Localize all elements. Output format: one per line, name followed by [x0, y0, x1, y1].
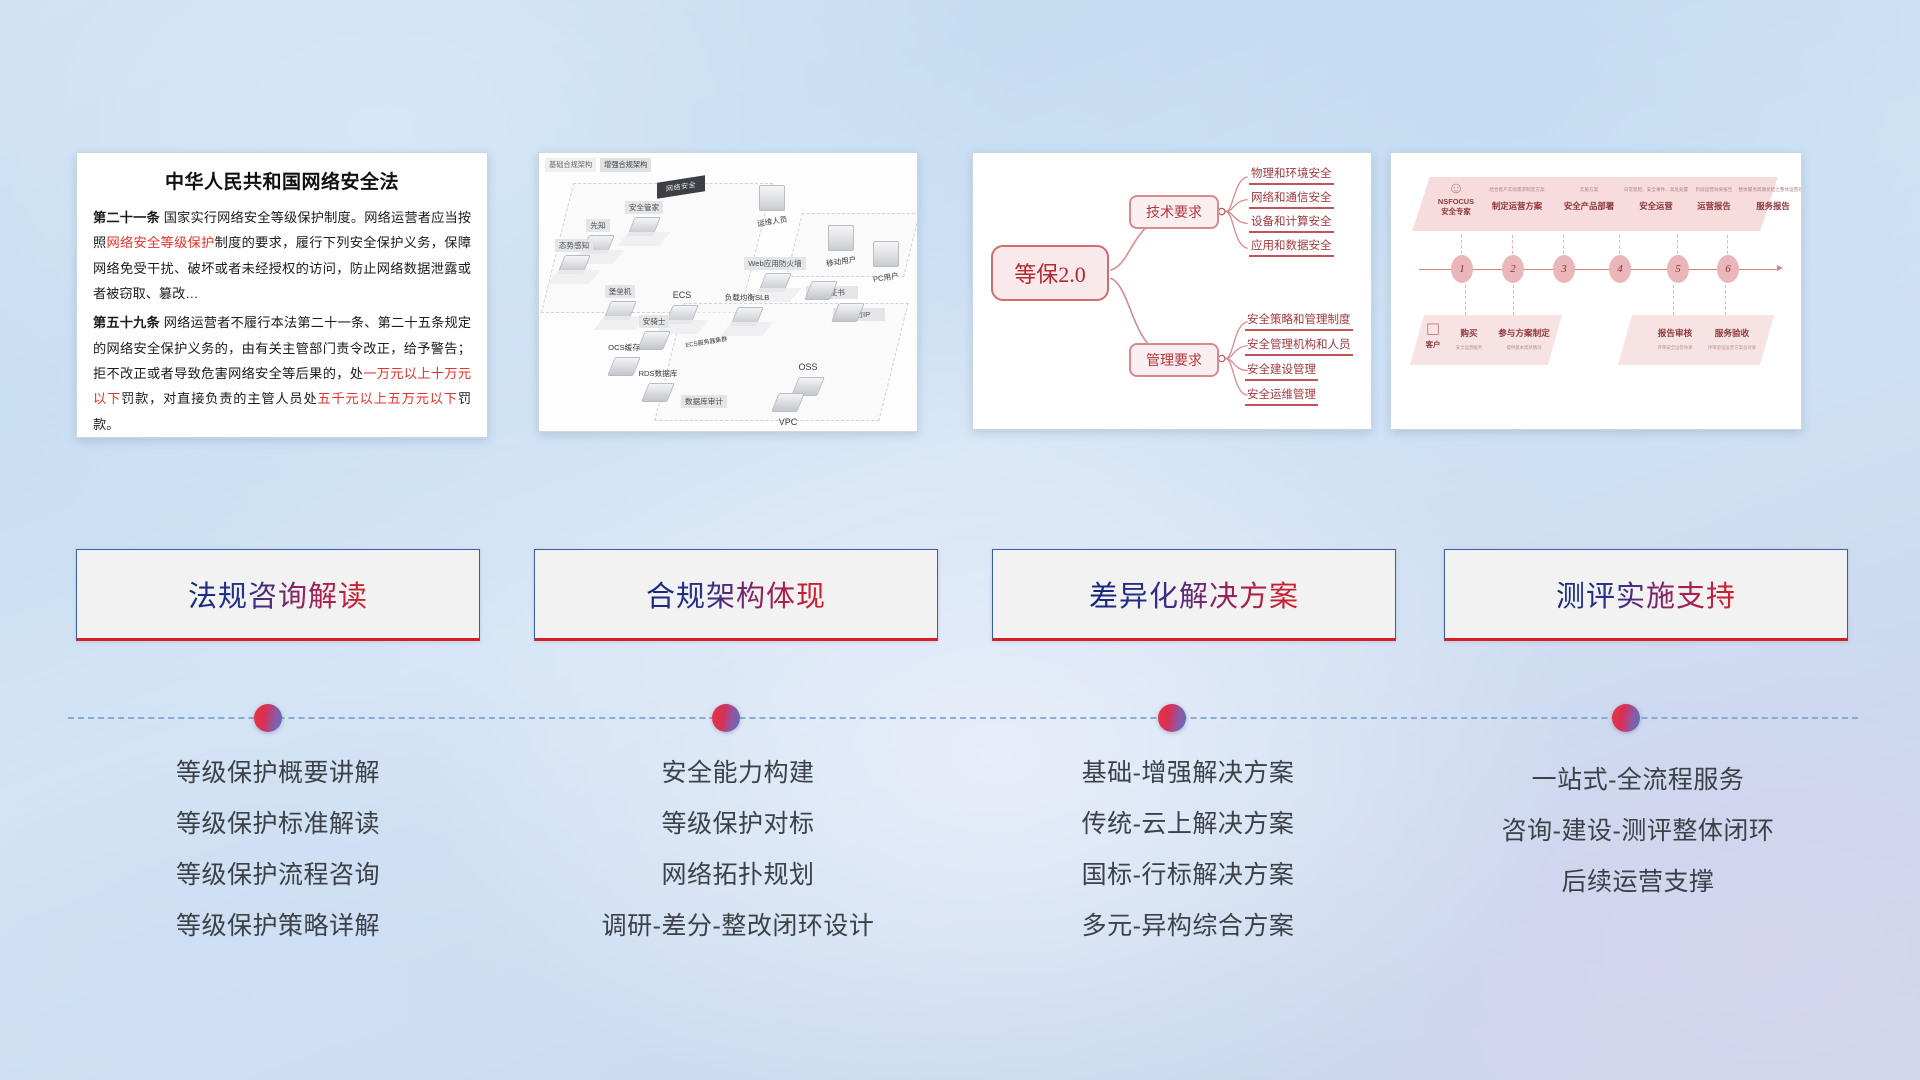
mindmap-branch-technical: 技术要求: [1129, 195, 1219, 229]
list-item: 等级保护标准解读: [66, 799, 490, 850]
list-item: 安全能力构建: [526, 748, 950, 799]
list-item: 咨询-建设-测评整体闭环: [1426, 799, 1850, 850]
node-database-audit: 数据库审计: [667, 391, 741, 409]
process-number-2: 2: [1502, 255, 1524, 283]
article-59-text-2: 罚款，对直接负责的主管人员处: [121, 391, 317, 406]
article-59-label: 第五十九条: [93, 315, 160, 330]
node-situation-awareness: 态势感知: [538, 235, 611, 284]
customer-step-3: 报告审核 评审安全运营效果: [1645, 327, 1705, 351]
headline-label-3: 差异化解决方案: [1089, 573, 1299, 615]
mindmap-root: 等保2.0: [991, 245, 1109, 301]
detail-columns: 等级保护概要讲解 等级保护标准解读 等级保护流程咨询 等级保护策略详解 安全能力…: [0, 748, 1920, 1008]
node-anti-ddos-ip: 高防IP: [811, 301, 885, 321]
list-item: 多元-异构综合方案: [976, 901, 1400, 952]
timeline-node-4[interactable]: [1612, 704, 1640, 732]
mindmap-leaf-mgmt-3: 安全建设管理: [1245, 361, 1318, 381]
mindmap: 等保2.0 技术要求 管理要求 物理和环境安全 网络和通信安全 设备和计算安全 …: [973, 153, 1371, 429]
mindmap-leaf-mgmt-1: 安全策略和管理制度: [1245, 311, 1353, 331]
tab-enhanced-architecture[interactable]: 增强合规架构: [600, 158, 651, 172]
node-ops-personnel: 运维人员: [735, 183, 809, 229]
node-ca-certificate: CA证书: [784, 279, 858, 299]
list-item: 等级保护对标: [526, 799, 950, 850]
person-icon: ☺: [1429, 181, 1483, 197]
mindmap-leaf-mgmt-2: 安全管理机构和人员: [1245, 336, 1353, 356]
detail-column-1: 等级保护概要讲解 等级保护标准解读 等级保护流程咨询 等级保护策略详解: [66, 748, 490, 952]
screenshot-card-row: 中华人民共和国网络安全法 第二十一条 国家实行网络安全等级保护制度。网络运营者应…: [0, 0, 1920, 480]
timeline-rail: [68, 717, 1858, 719]
timeline-node-2[interactable]: [712, 704, 740, 732]
customer-step-1: 购买 安全运营服务: [1447, 327, 1491, 351]
process-number-3: 3: [1553, 255, 1575, 283]
list-item: 基础-增强解决方案: [976, 748, 1400, 799]
tab-basic-architecture[interactable]: 基础合规架构: [545, 158, 596, 172]
law-article-21: 第二十一条 国家实行网络安全等级保护制度。网络运营者应当按照网络安全等级保护制度…: [93, 205, 471, 306]
process-number-5: 5: [1667, 255, 1689, 283]
law-title: 中华人民共和国网络安全法: [93, 167, 471, 194]
tick-lower-1: [1465, 285, 1466, 315]
mindmap-leaf-tech-3: 设备和计算安全: [1249, 213, 1334, 233]
timeline-node-1[interactable]: [254, 704, 282, 732]
list-item: 网络拓扑规划: [526, 850, 950, 901]
tick-lower-3: [1673, 285, 1674, 315]
detail-column-2: 安全能力构建 等级保护对标 网络拓扑规划 调研-差分-整改闭环设计: [526, 748, 950, 952]
customer-step-4: 服务验收 评审验证运营方案总效果: [1701, 327, 1763, 351]
card-cybersecurity-law[interactable]: 中华人民共和国网络安全法 第二十一条 国家实行网络安全等级保护制度。网络运营者应…: [76, 152, 488, 438]
mindmap-leaf-mgmt-4: 安全运维管理: [1245, 386, 1318, 406]
list-item: 等级保护策略详解: [66, 901, 490, 952]
detail-column-4: 一站式-全流程服务 咨询-建设-测评整体闭环 后续运营支撑: [1426, 748, 1850, 901]
card-assessment-process[interactable]: ☺ NSFOCUS 安全专家 结合客户实际需求制定方案 制定运营方案 实施方案 …: [1390, 152, 1802, 430]
mindmap-leaf-tech-1: 物理和环境安全: [1249, 165, 1334, 185]
customer-step-2: 参与方案制定 提供基本现状情况: [1489, 327, 1559, 351]
process-number-4: 4: [1609, 255, 1631, 283]
mindmap-leaf-tech-2: 网络和通信安全: [1249, 189, 1334, 209]
article-21-highlight: 网络安全等级保护: [107, 235, 215, 250]
detail-column-3: 基础-增强解决方案 传统-云上解决方案 国标-行标解决方案 多元-异构综合方案: [976, 748, 1400, 952]
mindmap-leaf-tech-4: 应用和数据安全: [1249, 237, 1334, 257]
process-step-2: 实施方案 安全产品部署: [1553, 187, 1625, 212]
list-item: 调研-差分-整改闭环设计: [526, 901, 950, 952]
process-number-6: 6: [1717, 255, 1739, 283]
nsfocus-expert: ☺ NSFOCUS 安全专家: [1429, 181, 1483, 217]
headline-label-2: 合规架构体现: [646, 573, 826, 615]
card-compliance-architecture[interactable]: 基础合规架构 增强合规架构 网络安全 安全管家 先知 态势感知 堡垒机: [538, 152, 918, 432]
list-item: 等级保护概要讲解: [66, 748, 490, 799]
tick-lower-4: [1725, 285, 1726, 315]
process-diagram: ☺ NSFOCUS 安全专家 结合客户实际需求制定方案 制定运营方案 实施方案 …: [1391, 153, 1801, 429]
process-step-1: 结合客户实际需求制定方案 制定运营方案: [1479, 187, 1555, 212]
slide-canvas: 中华人民共和国网络安全法 第二十一条 国家实行网络安全等级保护制度。网络运营者应…: [0, 0, 1920, 1080]
tick-lower-2: [1513, 285, 1514, 315]
list-item: 一站式-全流程服务: [1426, 748, 1850, 799]
process-number-1: 1: [1451, 255, 1473, 283]
architecture-tabs[interactable]: 基础合规架构 增强合规架构: [545, 158, 651, 172]
list-item: 等级保护流程咨询: [66, 850, 490, 901]
node-vpc: VPC: [751, 391, 825, 430]
expert-band-content: ☺ NSFOCUS 安全专家 结合客户实际需求制定方案 制定运营方案 实施方案 …: [1421, 177, 1769, 231]
architecture-diagram: 基础合规架构 增强合规架构 网络安全 安全管家 先知 态势感知 堡垒机: [539, 153, 917, 431]
axis-arrow-icon: [1777, 265, 1783, 271]
headline-box-differentiated-solution[interactable]: 差异化解决方案: [992, 549, 1396, 641]
list-item: 后续运营支撑: [1426, 850, 1850, 901]
headline-label-4: 测评实施支持: [1556, 573, 1736, 615]
timeline-node-3[interactable]: [1158, 704, 1186, 732]
mindmap-branch-management: 管理要求: [1129, 343, 1219, 377]
headline-box-compliance-architecture[interactable]: 合规架构体现: [534, 549, 938, 641]
article-59-highlight-2: 五千元以上五万元以下: [318, 391, 458, 406]
article-21-label: 第二十一条: [93, 210, 160, 225]
headline-box-assessment-support[interactable]: 测评实施支持: [1444, 549, 1848, 641]
timeline: [0, 698, 1920, 738]
list-item: 国标-行标解决方案: [976, 850, 1400, 901]
headline-box-row: 法规咨询解读 合规架构体现 差异化解决方案 测评实施支持: [0, 549, 1920, 641]
headline-box-regulation-consulting[interactable]: 法规咨询解读: [76, 549, 480, 641]
card-dengbao-mindmap[interactable]: 等保2.0 技术要求 管理要求 物理和环境安全 网络和通信安全 设备和计算安全 …: [972, 152, 1372, 430]
list-item: 传统-云上解决方案: [976, 799, 1400, 850]
node-pc-user: PC用户: [849, 239, 918, 285]
process-step-5: 整体服务周期总结之整体运营效果 服务报告: [1731, 187, 1802, 212]
headline-label-1: 法规咨询解读: [188, 573, 368, 615]
law-article-59: 第五十九条 网络运营者不履行本法第二十一条、第二十五条规定的网络安全保护义务的，…: [93, 310, 471, 437]
